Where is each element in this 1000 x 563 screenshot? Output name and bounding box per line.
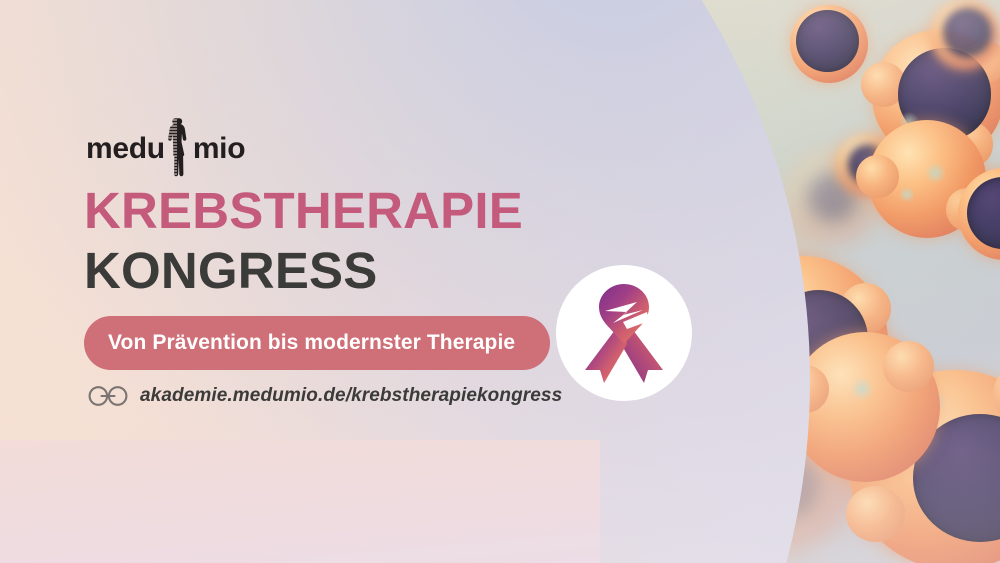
medumio-logo[interactable]: medu: [86, 127, 245, 171]
content-column: medu: [0, 0, 600, 563]
link-icon: [88, 385, 128, 407]
logo-word-left: medu: [86, 134, 165, 164]
page-title-secondary: KONGRESS: [84, 245, 377, 296]
url-row[interactable]: akademie.medumio.de/krebstherapiekongres…: [88, 385, 562, 407]
tagline-text: Von Prävention bis modernster Therapie: [84, 331, 515, 355]
human-figure-icon: [166, 116, 192, 178]
page-title-primary: KREBSTHERAPIE: [84, 185, 523, 236]
logo-word-right: mio: [193, 134, 245, 164]
url-text[interactable]: akademie.medumio.de/krebstherapiekongres…: [140, 385, 562, 407]
tagline-pill: Von Prävention bis modernster Therapie: [84, 316, 550, 370]
ribbon-badge: [556, 265, 692, 401]
congress-promo-banner: medu: [0, 0, 1000, 563]
awareness-ribbon-icon: [577, 282, 671, 384]
